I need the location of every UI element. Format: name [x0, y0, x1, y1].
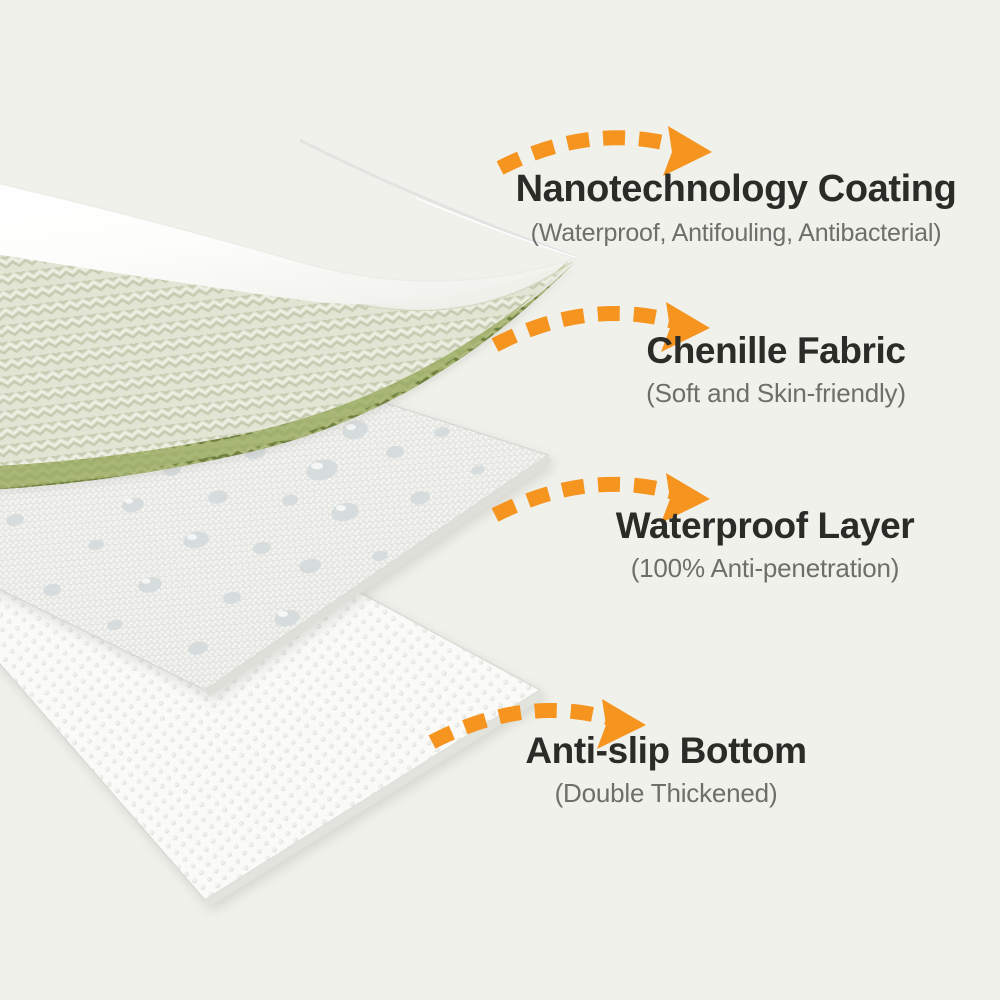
label-title: Nanotechnology Coating [480, 168, 992, 211]
label-subtitle: (Waterproof, Antifouling, Antibacterial) [480, 218, 992, 248]
label-anti-slip-bottom[interactable]: Anti-slip Bottom (Double Thickened) [450, 730, 882, 810]
label-chenille-fabric[interactable]: Chenille Fabric (Soft and Skin-friendly) [560, 330, 992, 410]
label-title: Waterproof Layer [540, 505, 990, 546]
label-subtitle: (Soft and Skin-friendly) [560, 378, 992, 409]
label-subtitle: (100% Anti-penetration) [540, 553, 990, 584]
infographic-canvas: Nanotechnology Coating (Waterproof, Anti… [0, 0, 1000, 1000]
label-title: Chenille Fabric [560, 330, 992, 371]
label-title: Anti-slip Bottom [450, 730, 882, 771]
label-nanotechnology-coating[interactable]: Nanotechnology Coating (Waterproof, Anti… [480, 168, 992, 248]
label-subtitle: (Double Thickened) [450, 778, 882, 809]
label-waterproof-layer[interactable]: Waterproof Layer (100% Anti-penetration) [540, 505, 990, 585]
layer-stack-illustration [0, 0, 1000, 1000]
